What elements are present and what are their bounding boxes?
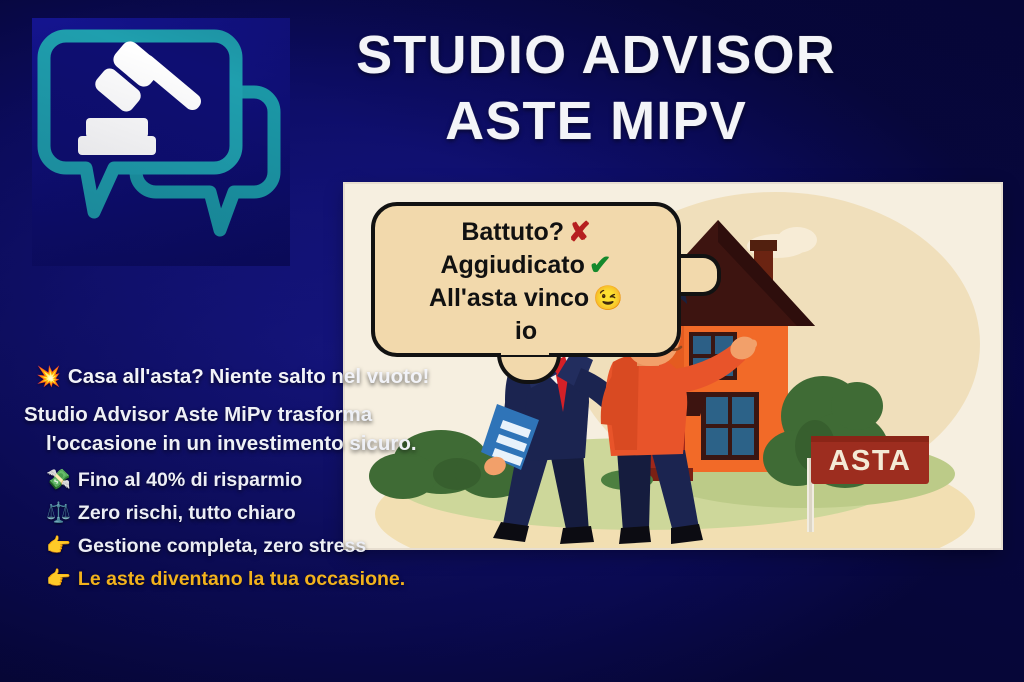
cross-mark-icon: ✘ xyxy=(568,216,591,249)
bubble-line-3: All'asta vinco 😉 xyxy=(429,282,623,315)
list-item: 👉 Gestione completa, zero stress xyxy=(46,531,534,562)
bullet-text: Gestione completa, zero stress xyxy=(78,531,366,562)
boom-icon: 💥 xyxy=(36,362,61,392)
winking-face-icon: 😉 xyxy=(593,282,623,315)
bullet-text: Zero rischi, tutto chiaro xyxy=(78,498,296,529)
speech-bubble: Battuto? ✘ Aggiudicato ✔ All'asta vinco … xyxy=(371,202,681,357)
bubble-line-3-text: All'asta vinco xyxy=(429,282,589,315)
list-item: 👉 Le aste diventano la tua occasione. xyxy=(46,564,534,595)
lead-paragraph: Studio Advisor Aste MiPv trasforma l'occ… xyxy=(24,400,534,458)
bubble-line-2: Aggiudicato ✔ xyxy=(440,249,611,282)
bubble-line-4-text: io xyxy=(515,315,537,348)
marketing-copy-block: 💥 Casa all'asta? Niente salto nel vuoto!… xyxy=(24,362,534,597)
headline-text: Casa all'asta? Niente salto nel vuoto! xyxy=(68,362,429,392)
asta-sign-label: ASTA xyxy=(829,445,912,477)
balance-scale-icon: ⚖️ xyxy=(46,498,71,528)
bullet-text: Fino al 40% di risparmio xyxy=(78,465,302,496)
bubble-line-4: io xyxy=(515,315,537,348)
bubble-line-1: Battuto? ✘ xyxy=(461,216,590,249)
list-item: 💸 Fino al 40% di risparmio xyxy=(46,465,534,496)
title-line-1: STUDIO ADVISOR xyxy=(296,22,896,88)
headline-row: 💥 Casa all'asta? Niente salto nel vuoto! xyxy=(36,362,534,392)
auction-gavel-speech-bubble-icon xyxy=(36,22,286,267)
title-line-2: ASTE MIPV xyxy=(296,88,896,154)
poster-title: STUDIO ADVISOR ASTE MIPV xyxy=(296,22,896,154)
bullet-text-highlight: Le aste diventano la tua occasione. xyxy=(78,564,405,595)
poster-canvas: STUDIO ADVISOR ASTE MIPV 💥 Casa all'asta… xyxy=(0,0,1024,682)
lead-line-2: l'occasione in un investimento sicuro. xyxy=(24,429,534,458)
list-item: ⚖️ Zero rischi, tutto chiaro xyxy=(46,498,534,529)
money-with-wings-icon: 💸 xyxy=(46,465,71,495)
pointing-right-hand-icon: 👉 xyxy=(46,564,71,594)
bubble-line-1-text: Battuto? xyxy=(461,216,564,249)
pointing-right-hand-icon: 👉 xyxy=(46,531,71,561)
bubble-text-block: Battuto? ✘ Aggiudicato ✔ All'asta vinco … xyxy=(371,202,681,357)
bubble-line-2-text: Aggiudicato xyxy=(440,249,584,282)
check-mark-icon: ✔ xyxy=(589,249,612,282)
lead-line-1: Studio Advisor Aste MiPv trasforma xyxy=(24,403,372,426)
